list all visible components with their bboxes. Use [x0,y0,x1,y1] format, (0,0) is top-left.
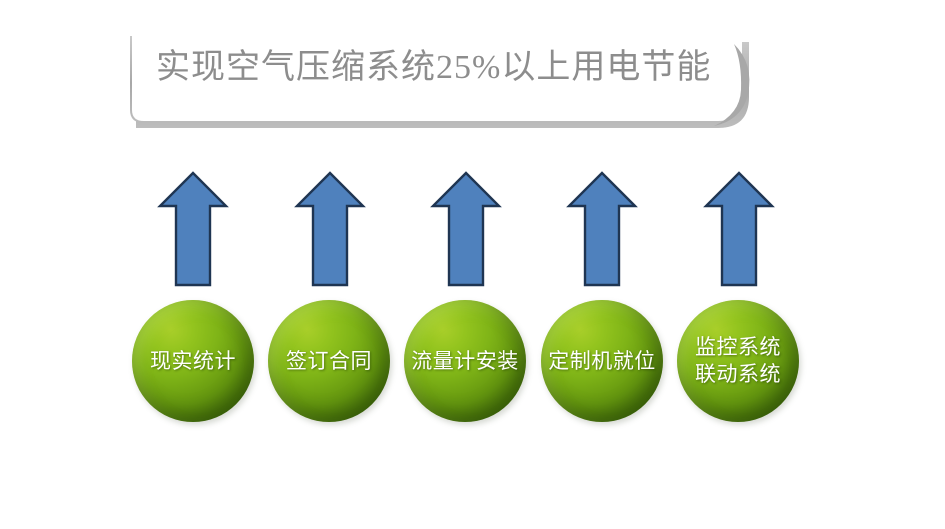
arrow-up-4 [567,171,637,287]
step-sphere-5[interactable]: 监控系统 联动系统 [677,300,799,422]
arrow-up-icon [567,171,637,287]
step-sphere-4[interactable]: 定制机就位 [541,300,663,422]
page-title: 实现空气压缩系统25%以上用电节能 [156,42,756,94]
slide-canvas: 实现空气压缩系统25%以上用电节能 现实统计 签订合同 流量计安装 [0,0,945,529]
arrow-up-2 [295,171,365,287]
title-banner: 实现空气压缩系统25%以上用电节能 [128,36,748,124]
step-label-4: 定制机就位 [542,348,662,375]
arrow-up-3 [431,171,501,287]
arrow-up-icon [295,171,365,287]
step-label-1: 现实统计 [144,348,242,375]
arrow-up-5 [704,171,774,287]
step-label-2: 签订合同 [280,348,378,375]
step-label-5: 监控系统 联动系统 [689,334,787,388]
arrow-up-icon [431,171,501,287]
arrow-up-icon [704,171,774,287]
step-sphere-3[interactable]: 流量计安装 [404,300,526,422]
step-sphere-2[interactable]: 签订合同 [268,300,390,422]
step-sphere-1[interactable]: 现实统计 [132,300,254,422]
step-label-3: 流量计安装 [405,348,525,375]
arrow-up-1 [158,171,228,287]
arrow-up-icon [158,171,228,287]
